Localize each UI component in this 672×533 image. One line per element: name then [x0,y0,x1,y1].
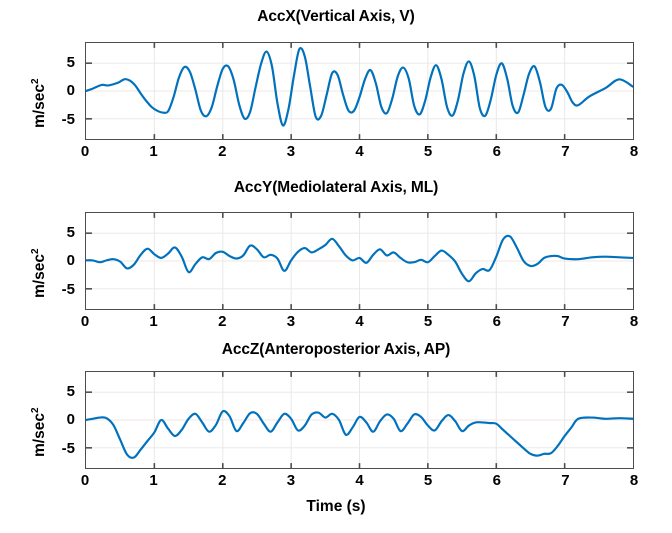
ytick-5: 5 [45,55,75,70]
subplot-accy: AccY(Mediolateral Axis, ML) m/sec2 5 0 -… [0,175,672,340]
subplot-accx-xtick-labels: 0 1 2 3 4 5 6 7 8 [85,143,634,165]
subplot-accx: AccX(Vertical Axis, V) m/sec2 5 0 -5 [0,0,672,175]
xtick-6: 6 [493,472,501,489]
xtick-8: 8 [630,472,638,489]
accelerometer-figure: AccX(Vertical Axis, V) m/sec2 5 0 -5 [0,0,672,533]
xtick-0: 0 [81,313,89,330]
ytick-neg5: -5 [45,282,75,297]
subplot-accx-plot [86,43,633,139]
xtick-2: 2 [218,472,226,489]
xtick-3: 3 [287,313,295,330]
xtick-4: 4 [355,143,363,160]
xtick-1: 1 [149,143,157,160]
subplot-accx-title: AccX(Vertical Axis, V) [0,8,672,26]
subplot-accz-title: AccZ(Anteroposterior Axis, AP) [0,341,672,359]
xtick-2: 2 [218,313,226,330]
xtick-0: 0 [81,143,89,160]
xtick-2: 2 [218,143,226,160]
xtick-3: 3 [287,472,295,489]
xtick-4: 4 [355,313,363,330]
xtick-0: 0 [81,472,89,489]
subplot-accy-plot [86,213,633,309]
xtick-5: 5 [424,313,432,330]
ytick-neg5: -5 [45,112,75,127]
xtick-8: 8 [630,313,638,330]
xtick-6: 6 [493,143,501,160]
xtick-7: 7 [561,313,569,330]
subplot-accz: AccZ(Anteroposterior Axis, AP) m/sec2 5 … [0,340,672,533]
xtick-7: 7 [561,143,569,160]
subplot-accy-xtick-labels: 0 1 2 3 4 5 6 7 8 [85,313,634,335]
ytick-0: 0 [45,83,75,98]
xtick-4: 4 [355,472,363,489]
subplot-accy-axes [85,212,634,310]
subplot-accz-axes [85,371,634,469]
x-axis-title: Time (s) [0,498,672,516]
subplot-accx-axes [85,42,634,140]
xtick-6: 6 [493,313,501,330]
ytick-neg5: -5 [45,441,75,456]
gridlines [86,213,633,309]
subplot-accy-title: AccY(Mediolateral Axis, ML) [0,179,672,197]
ytick-5: 5 [45,384,75,399]
ytick-0: 0 [45,253,75,268]
subplot-accz-plot [86,372,633,468]
gridlines [86,43,633,139]
xtick-5: 5 [424,472,432,489]
subplot-accz-xtick-labels: 0 1 2 3 4 5 6 7 8 [85,472,634,494]
xtick-7: 7 [561,472,569,489]
ytick-0: 0 [45,412,75,427]
xtick-5: 5 [424,143,432,160]
xtick-1: 1 [149,313,157,330]
xtick-8: 8 [630,143,638,160]
ytick-5: 5 [45,225,75,240]
xtick-1: 1 [149,472,157,489]
xtick-3: 3 [287,143,295,160]
